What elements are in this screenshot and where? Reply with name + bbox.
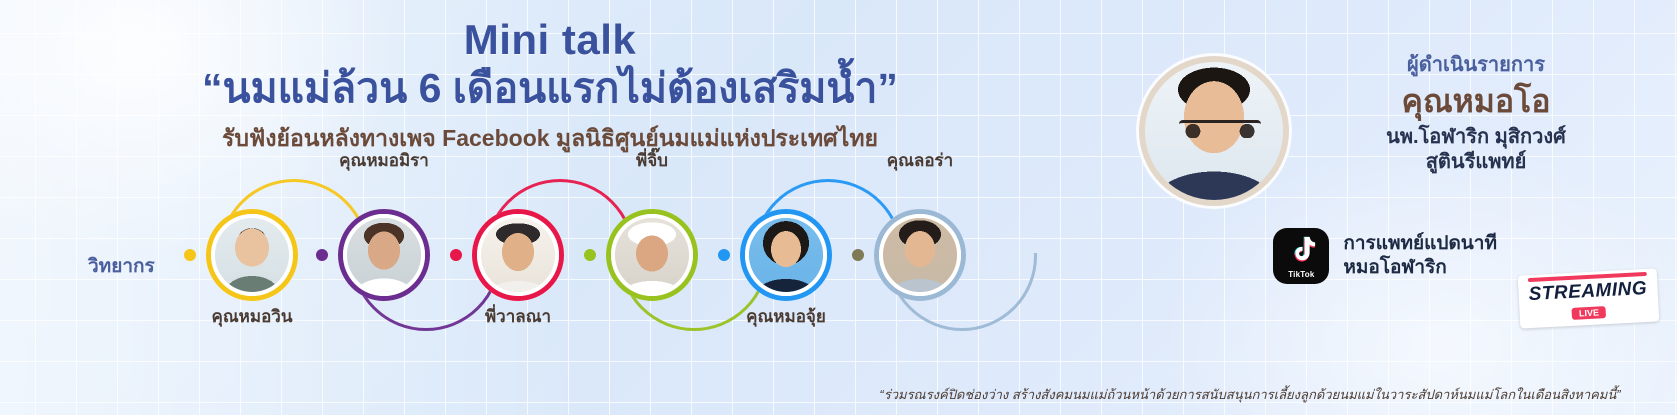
speaker-node-2[interactable]: คุณหมอมิรา bbox=[322, 175, 446, 340]
avatar-ring-inner bbox=[343, 214, 425, 296]
streaming-badge: STREAMING LIVE bbox=[1517, 268, 1658, 328]
speaker-name: พี่วาลณา bbox=[485, 303, 551, 330]
tiktok-channel-line2: หมอโอฬาริก bbox=[1343, 256, 1497, 280]
speaker-name: คุณหมอวิน bbox=[212, 303, 293, 330]
avatar-ring-inner bbox=[879, 214, 961, 296]
tiktok-channel-line1: การแพทย์แปดนาที bbox=[1343, 232, 1497, 256]
speaker-avatar bbox=[338, 209, 430, 301]
streaming-label: STREAMING bbox=[1528, 278, 1647, 306]
avatar-ring-inner bbox=[211, 214, 293, 296]
host-glasses-icon bbox=[1179, 120, 1261, 138]
campaign-footnote: “ร่วมรณรงค์ปิดช่องว่าง สร้างสังคมนมแม่ถ้… bbox=[840, 384, 1660, 405]
speaker-avatar bbox=[206, 209, 298, 301]
timeline-dot bbox=[316, 249, 328, 261]
live-badge: LIVE bbox=[1571, 306, 1606, 320]
speaker-node-6[interactable]: คุณลอร่า bbox=[858, 175, 982, 340]
speaker-name: คุณลอร่า bbox=[887, 147, 953, 174]
mini-talk-title: Mini talk bbox=[0, 18, 1100, 62]
speaker-timeline: วิทยากร คุณหมอวิน bbox=[0, 175, 1060, 340]
speaker-avatar bbox=[740, 209, 832, 301]
speaker-node-5[interactable]: คุณหมอจุ้ย bbox=[724, 175, 848, 340]
host-nickname: คุณหมอโอ bbox=[1311, 84, 1641, 119]
timeline-dot bbox=[852, 249, 864, 261]
avatar-ring-inner bbox=[745, 214, 827, 296]
tiktok-note-glyph bbox=[1284, 235, 1318, 267]
speaker-node-1[interactable]: คุณหมอวิน bbox=[190, 175, 314, 340]
host-role: ผู้ดำเนินรายการ bbox=[1311, 48, 1641, 80]
speaker-name: คุณหมอจุ้ย bbox=[746, 303, 826, 330]
tiktok-channel-row[interactable]: TikTok การแพทย์แปดนาที หมอโอฬาริก bbox=[1273, 228, 1497, 284]
host-specialty: สูตินรีแพทย์ bbox=[1311, 150, 1641, 175]
host-avatar bbox=[1139, 56, 1289, 206]
speaker-name: พี่จิ๊บ bbox=[636, 147, 668, 174]
tiktok-wordmark: TikTok bbox=[1288, 270, 1314, 279]
speaker-avatar bbox=[606, 209, 698, 301]
timeline-dot bbox=[184, 249, 196, 261]
speakers-label: วิทยากร bbox=[88, 251, 155, 281]
speaker-node-3[interactable]: พี่วาลณา bbox=[456, 175, 580, 340]
speaker-name: คุณหมอมิรา bbox=[339, 147, 429, 174]
host-details: ผู้ดำเนินรายการ คุณหมอโอ นพ.โอฬาริก มุสิ… bbox=[1311, 48, 1641, 175]
timeline-dot bbox=[718, 249, 730, 261]
speaker-node-4[interactable]: พี่จิ๊บ bbox=[590, 175, 714, 340]
headline-block: Mini talk “นมแม่ล้วน 6 เดือนแรกไม่ต้องเส… bbox=[0, 18, 1100, 154]
tiktok-icon[interactable]: TikTok bbox=[1273, 228, 1329, 284]
tiktok-channel-name: การแพทย์แปดนาที หมอโอฬาริก bbox=[1343, 232, 1497, 280]
avatar-ring-inner bbox=[611, 214, 693, 296]
timeline-dot bbox=[584, 249, 596, 261]
timeline-dot bbox=[450, 249, 462, 261]
host-block: ผู้ดำเนินรายการ คุณหมอโอ นพ.โอฬาริก มุสิ… bbox=[1139, 48, 1659, 248]
speaker-avatar bbox=[874, 209, 966, 301]
host-fullname: นพ.โอฬาริก มุสิกวงศ์ bbox=[1311, 125, 1641, 150]
speaker-avatar bbox=[472, 209, 564, 301]
avatar-ring-inner bbox=[477, 214, 559, 296]
talk-topic-quote: “นมแม่ล้วน 6 เดือนแรกไม่ต้องเสริมน้ำ” bbox=[0, 64, 1100, 112]
breastfeeding-mini-talk-banner: Mini talk “นมแม่ล้วน 6 เดือนแรกไม่ต้องเส… bbox=[0, 0, 1677, 415]
